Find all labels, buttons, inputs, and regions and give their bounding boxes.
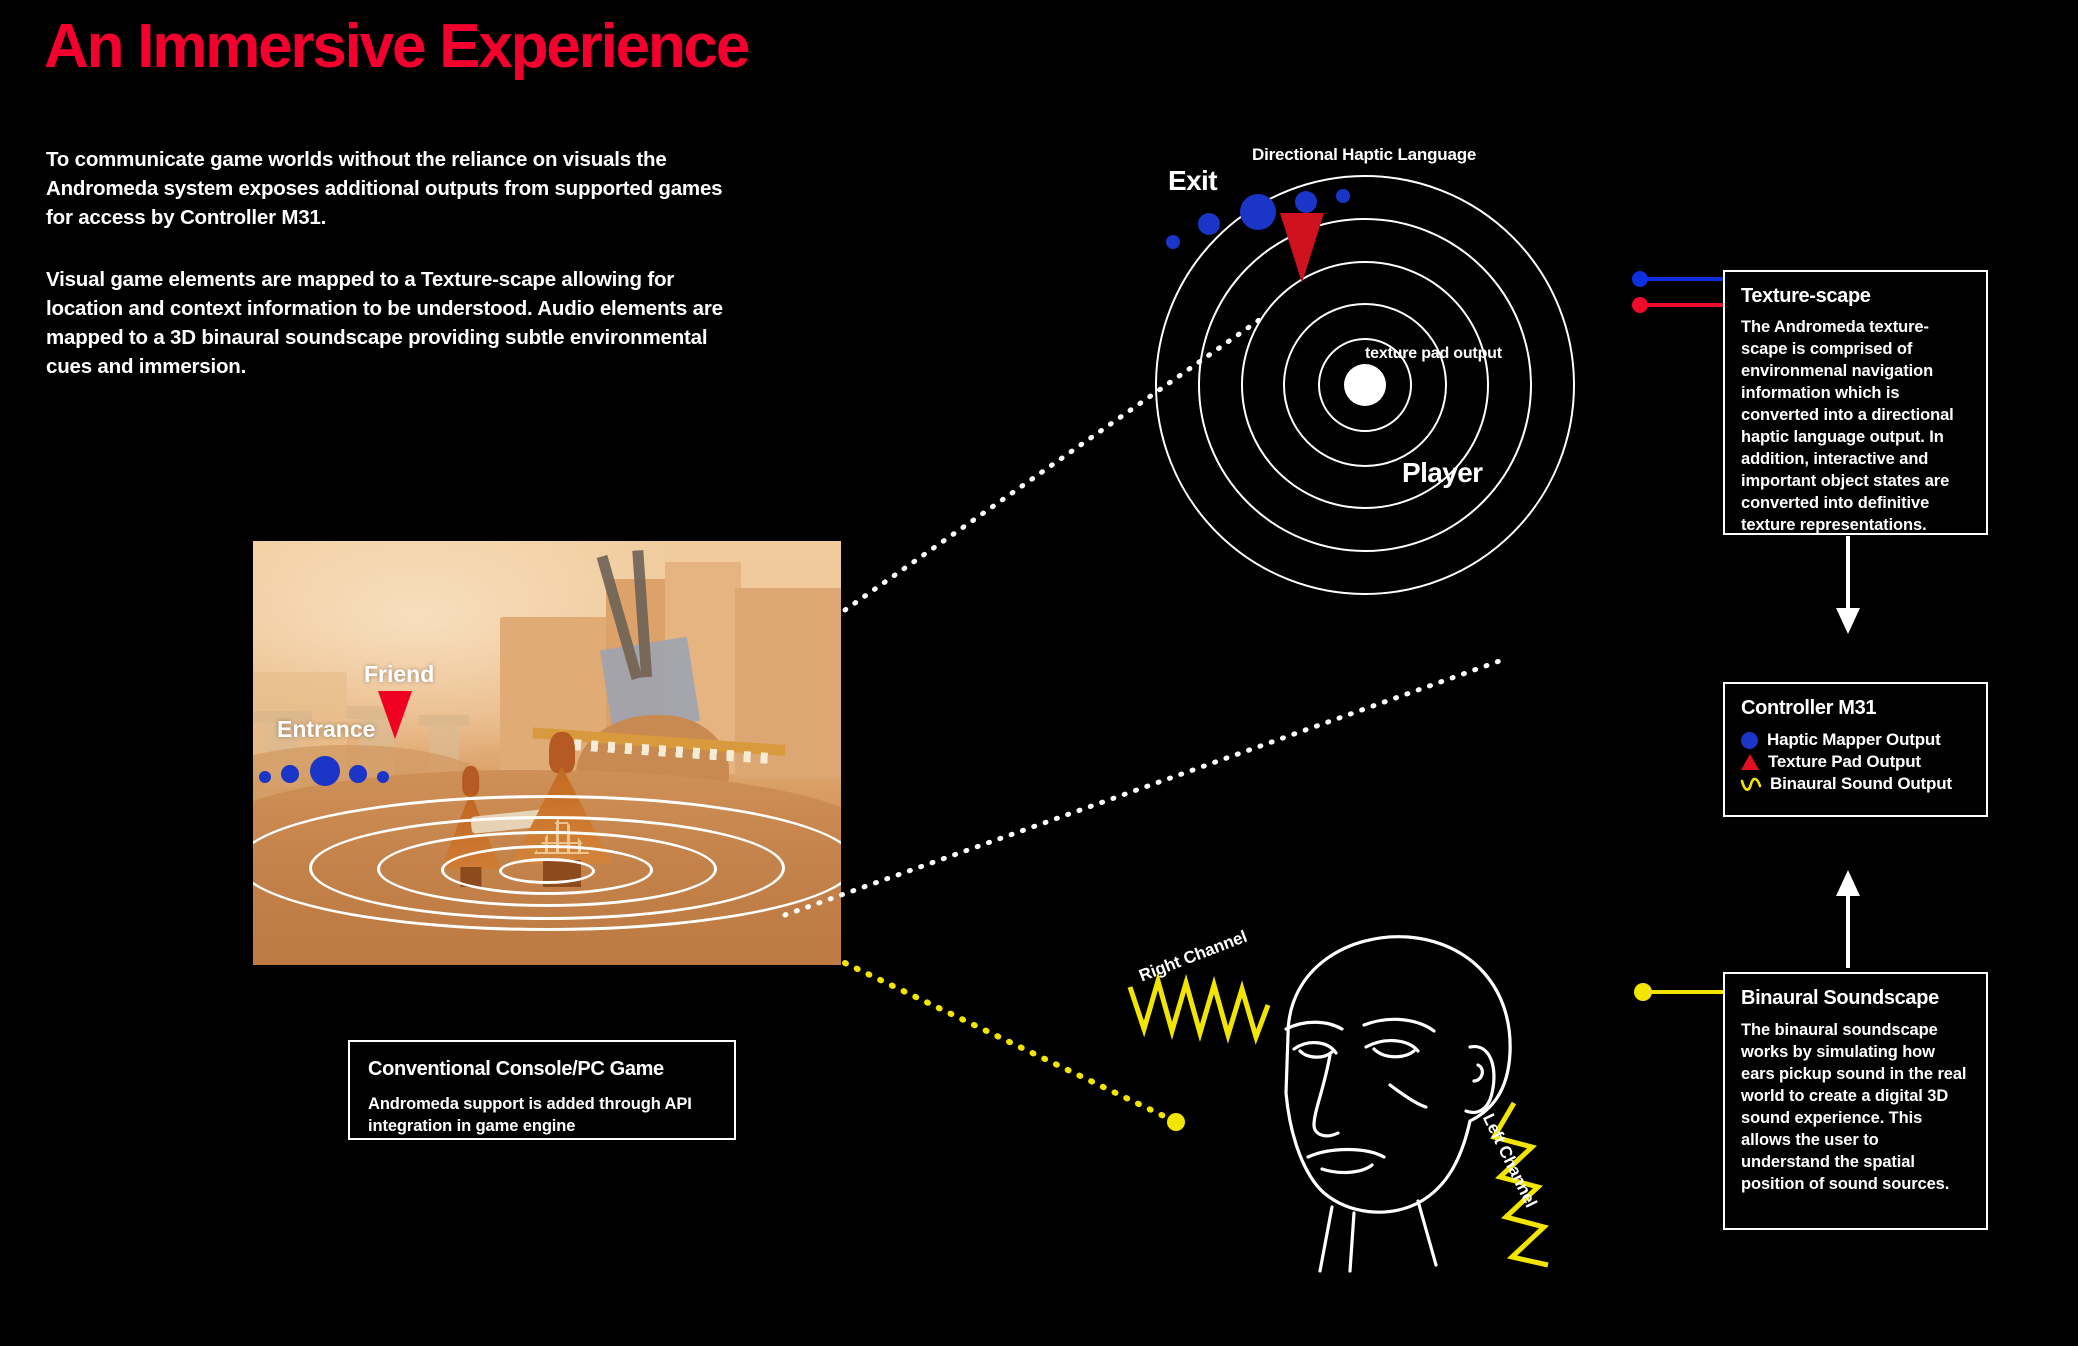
radar-player-dot: [1344, 364, 1386, 406]
controller-heading: Controller M31: [1741, 697, 1970, 720]
right-brow: [1364, 1019, 1434, 1031]
red-triangle-icon: [1741, 754, 1759, 770]
radar-heading: Directional Haptic Language: [1252, 145, 1476, 165]
lower-lip: [1322, 1165, 1372, 1172]
blue-circle-icon: [1741, 732, 1758, 749]
right-eye-lid: [1374, 1049, 1414, 1057]
yellow-wave-icon: [1741, 776, 1761, 792]
radar-haptic-dot: [1166, 235, 1180, 249]
head-outline: [1286, 937, 1510, 1212]
radar-haptic-dot: [1295, 191, 1317, 213]
overlay-haptic-dot: [377, 771, 389, 783]
overlay-haptic-dot: [310, 756, 340, 786]
dotted-line-lower: [785, 658, 1508, 915]
radar-texture-pad-triangle: [1280, 213, 1324, 283]
cheek-line: [1390, 1085, 1426, 1107]
arrow-down-head: [1836, 608, 1860, 634]
overlay-texture-pad-triangle: [378, 691, 412, 739]
binaural-head-illustration: [1118, 925, 1638, 1275]
conventional-game-heading: Conventional Console/PC Game: [368, 1058, 716, 1081]
game-screenshot: Entrance Friend: [253, 541, 841, 965]
binaural-body: The binaural soundscape works by simulat…: [1741, 1020, 1970, 1196]
arrow-up-head: [1836, 870, 1860, 896]
radar-haptic-dot: [1198, 213, 1220, 235]
left-eye-lid: [1300, 1051, 1332, 1057]
overlay-haptic-dot: [281, 765, 299, 783]
overlay-label-entrance: Entrance: [277, 716, 375, 743]
overlay-label-friend: Friend: [364, 661, 434, 688]
legend-label: Binaural Sound Output: [1770, 774, 1952, 794]
legend-label: Texture Pad Output: [1768, 752, 1921, 772]
intro-paragraph-2: Visual game elements are mapped to a Tex…: [46, 265, 746, 381]
controller-legend-box: Controller M31 Haptic Mapper Output Text…: [1723, 682, 1988, 817]
texturescape-body: The Andromeda texture-scape is comprised…: [1741, 317, 1970, 536]
overlay-haptic-dot: [349, 765, 367, 783]
radar-label-player: Player: [1402, 457, 1482, 489]
haptic-wire-dot: [1632, 271, 1648, 287]
page-title: An Immersive Experience: [44, 14, 748, 79]
overlay-ring: [499, 858, 595, 884]
radar-haptic-dot: [1336, 189, 1350, 203]
legend-label: Haptic Mapper Output: [1767, 730, 1941, 750]
binaural-soundscape-box: Binaural Soundscape The binaural soundsc…: [1723, 972, 1988, 1230]
ear-inner: [1474, 1065, 1482, 1081]
intro-paragraph-1: To communicate game worlds without the r…: [46, 145, 746, 232]
texture-wire-dot: [1632, 297, 1648, 313]
texturescape-heading: Texture-scape: [1741, 285, 1970, 308]
radar-label-exit: Exit: [1168, 165, 1217, 197]
right-channel-wave: [1130, 981, 1268, 1037]
neck-right: [1418, 1201, 1436, 1265]
binaural-heading: Binaural Soundscape: [1741, 987, 1970, 1010]
conventional-game-box: Conventional Console/PC Game Andromeda s…: [348, 1040, 736, 1140]
mouth: [1308, 1150, 1384, 1158]
directional-haptic-radar: [1140, 175, 1590, 595]
legend-item-texture: Texture Pad Output: [1741, 752, 1970, 772]
nose: [1314, 1055, 1338, 1136]
left-brow: [1286, 1022, 1342, 1029]
neck-mid: [1350, 1213, 1354, 1271]
texturescape-box: Texture-scape The Andromeda texture-scap…: [1723, 270, 1988, 535]
overlay-haptic-dot: [259, 771, 271, 783]
legend-item-haptic: Haptic Mapper Output: [1741, 730, 1970, 750]
radar-label-texture-pad-output: texture pad output: [1365, 345, 1502, 363]
neck-left: [1320, 1207, 1332, 1271]
legend-item-sound: Binaural Sound Output: [1741, 774, 1970, 794]
conventional-game-body: Andromeda support is added through API i…: [368, 1094, 716, 1138]
radar-haptic-dot: [1240, 194, 1276, 230]
